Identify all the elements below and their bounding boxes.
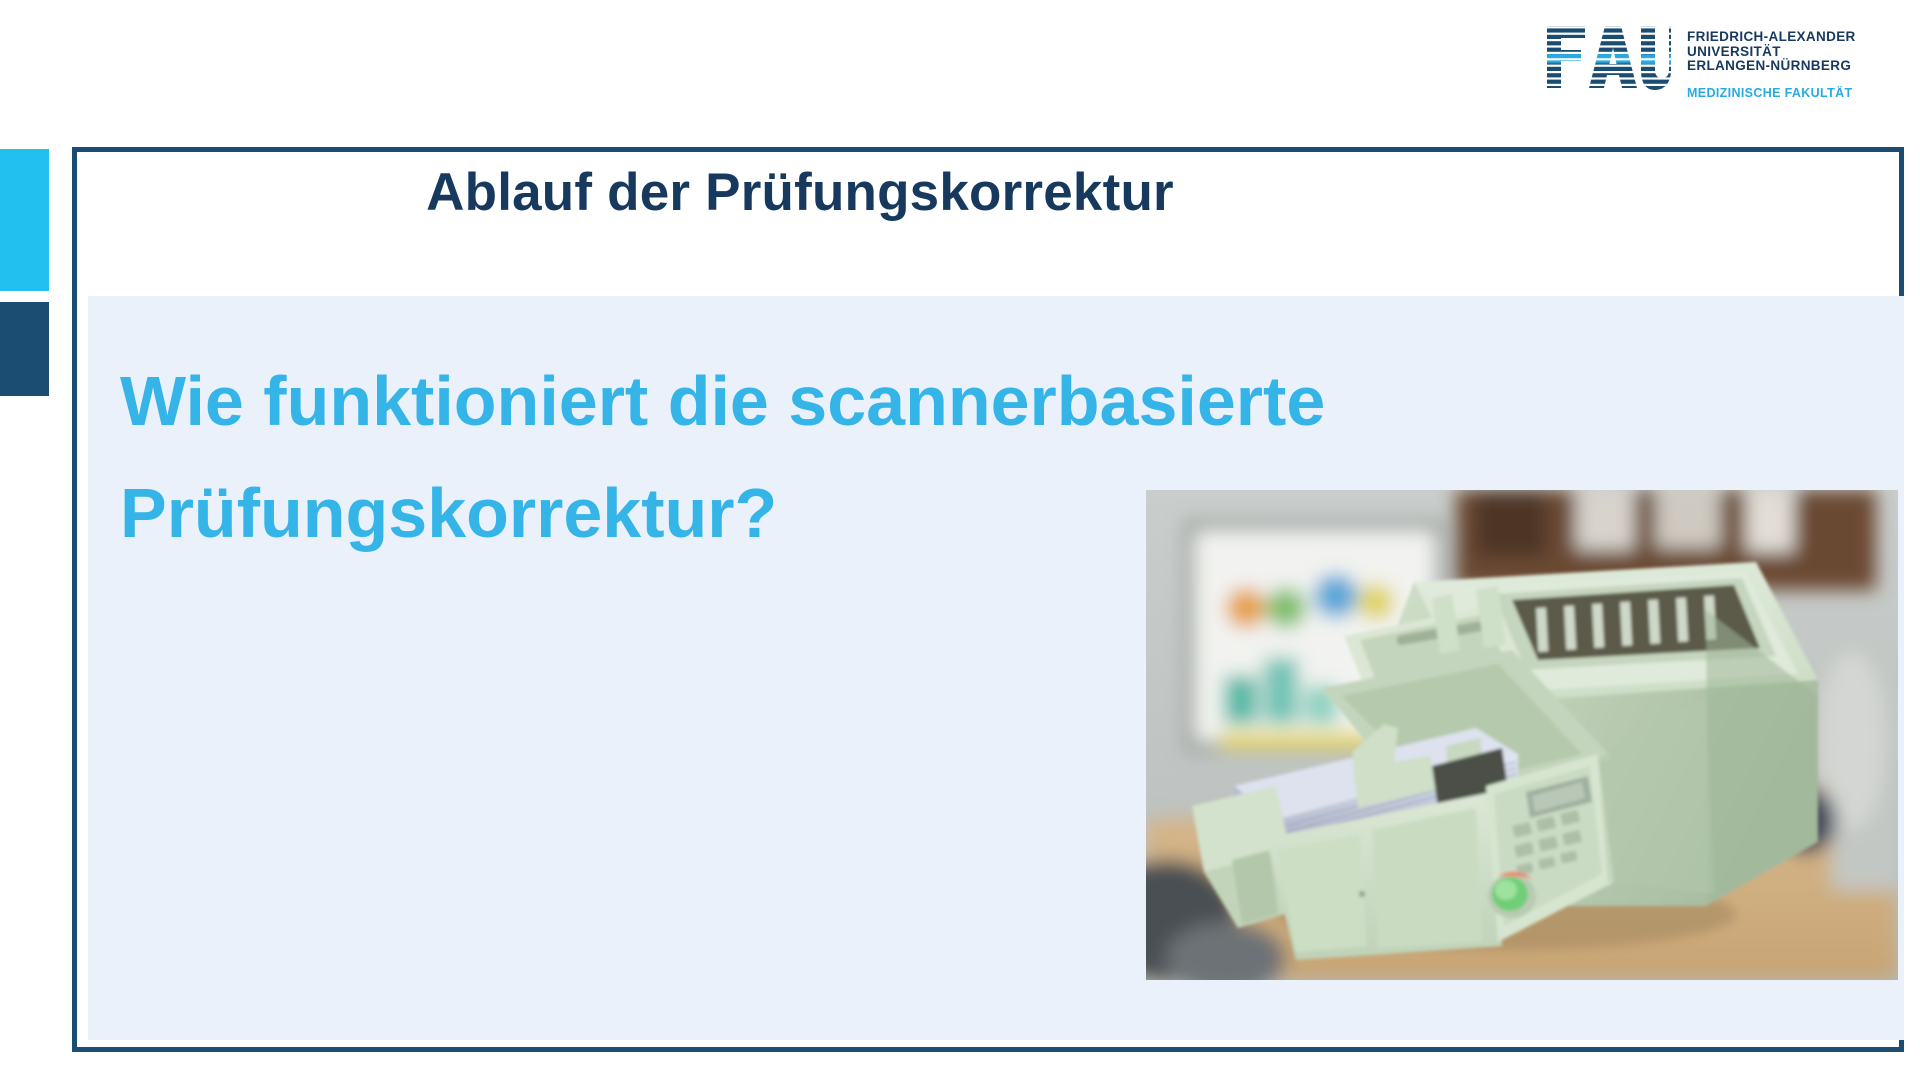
- accent-bar-navy: [0, 302, 49, 396]
- main-heading-line-1: Wie funktioniert die scannerbasierte: [120, 345, 1840, 457]
- document-scanner-photo: [1146, 490, 1898, 980]
- logo-line-1: FRIEDRICH-ALEXANDER: [1687, 30, 1856, 45]
- slide-title: Ablauf der Prüfungskorrektur: [90, 162, 1510, 223]
- logo-line-3: ERLANGEN-NÜRNBERG: [1687, 59, 1856, 74]
- fau-logo-wordmark: FRIEDRICH-ALEXANDER UNIVERSITÄT ERLANGEN…: [1687, 22, 1856, 100]
- fau-logo: FRIEDRICH-ALEXANDER UNIVERSITÄT ERLANGEN…: [1545, 22, 1895, 112]
- fau-logo-icon: [1545, 22, 1673, 92]
- logo-line-2: UNIVERSITÄT: [1687, 45, 1856, 60]
- accent-bar-cyan: [0, 149, 49, 291]
- presentation-slide: FRIEDRICH-ALEXANDER UNIVERSITÄT ERLANGEN…: [0, 0, 1920, 1080]
- logo-faculty-line: MEDIZINISCHE FAKULTÄT: [1687, 86, 1856, 101]
